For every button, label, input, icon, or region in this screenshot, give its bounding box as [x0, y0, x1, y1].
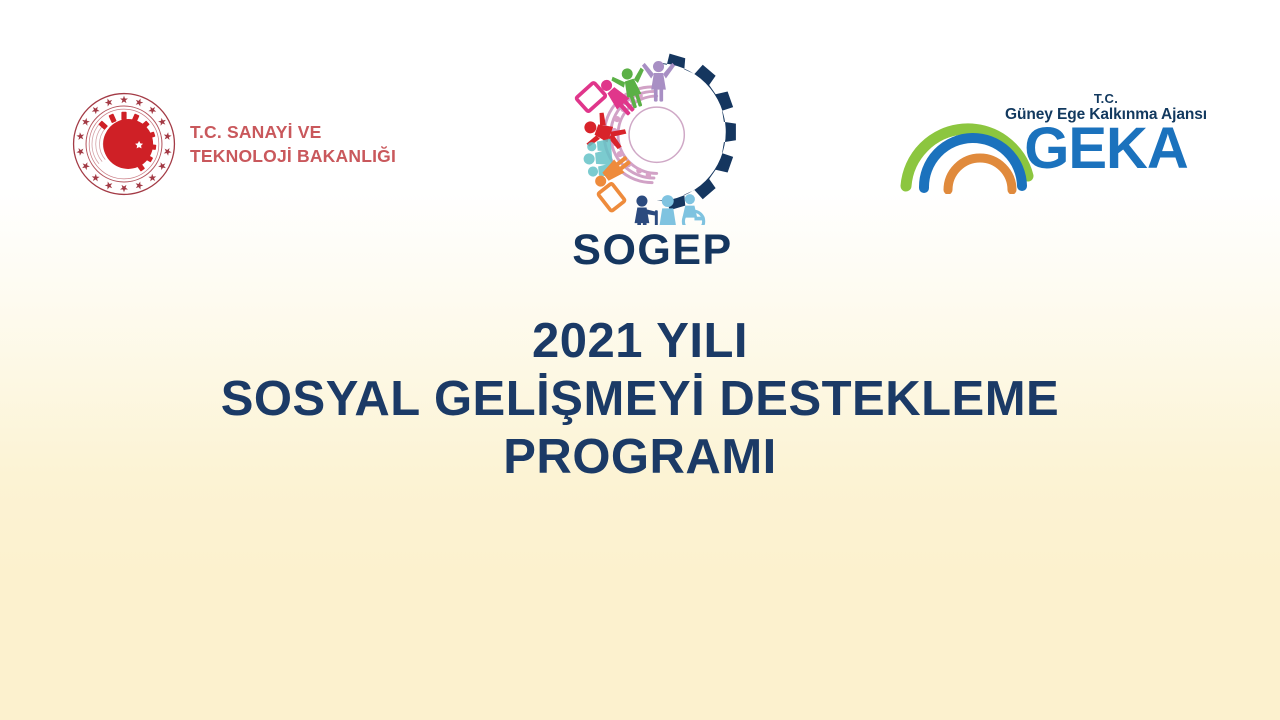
slide-canvas: T.C. SANAYİ VE TEKNOLOJİ BAKANLIĞI — [0, 0, 1280, 720]
ministry-name-line2: TEKNOLOJİ BAKANLIĞI — [190, 144, 396, 168]
sogep-wordmark: SOGEP — [545, 229, 760, 272]
title-line-2: SOSYAL GELİŞMEYİ DESTEKLEME — [0, 371, 1280, 429]
geka-wordmark: GEKA — [996, 121, 1216, 176]
turkish-ministry-emblem-icon — [72, 92, 176, 196]
sogep-logo: SOGEP — [545, 50, 760, 272]
ministry-logo: T.C. SANAYİ VE TEKNOLOJİ BAKANLIĞI — [72, 92, 396, 196]
geka-tc-label: T.C. — [996, 92, 1216, 106]
logo-band: T.C. SANAYİ VE TEKNOLOJİ BAKANLIĞI — [0, 0, 1280, 290]
geka-text-block: T.C. Güney Ege Kalkınma Ajansı GEKA — [996, 92, 1216, 177]
sogep-gear-people-icon — [558, 50, 748, 225]
title-line-3: PROGRAMI — [0, 429, 1280, 487]
title-line-1: 2021 YILI — [0, 313, 1280, 371]
page-title: 2021 YILI SOSYAL GELİŞMEYİ DESTEKLEME PR… — [0, 313, 1280, 486]
geka-logo: T.C. Güney Ege Kalkınma Ajansı GEKA — [900, 92, 1215, 200]
ministry-name-text: T.C. SANAYİ VE TEKNOLOJİ BAKANLIĞI — [190, 120, 396, 168]
ministry-name-line1: T.C. SANAYİ VE — [190, 120, 396, 144]
